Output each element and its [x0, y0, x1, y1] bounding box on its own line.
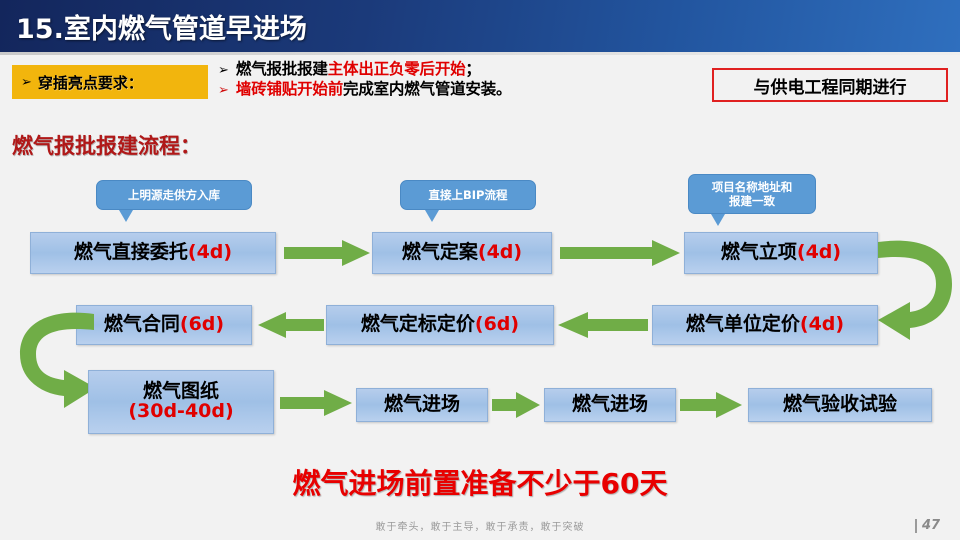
node-label: 燃气验收试验	[783, 393, 897, 415]
requirement-bullet-1: ➢ 燃气报批报建主体出正负零后开始；	[218, 62, 688, 78]
node-gas-bid-pricing[interactable]: 燃气定标定价(6d)	[326, 305, 554, 345]
node-label: 燃气进场	[384, 393, 460, 415]
highlight-requirement-label: ➢ 穿插亮点要求：	[12, 65, 208, 99]
arrow-row1-1to2	[284, 240, 370, 266]
arrow-row2-3to2	[558, 312, 648, 338]
callout-2: 直接上BIP流程	[400, 180, 536, 210]
sync-note-box: 与供电工程同期进行	[712, 68, 948, 102]
bullet-arrow-icon: ➢	[218, 64, 229, 77]
node-label: 燃气图纸	[143, 380, 219, 402]
page-title: 15.室内燃气管道早进场	[16, 7, 307, 46]
header-divider	[0, 52, 960, 55]
bullet-1-text-tail: ；	[465, 60, 480, 78]
node-label: 燃气进场	[572, 393, 648, 415]
node-duration: (4d)	[797, 241, 841, 263]
bullet-arrow-icon: ➢	[21, 75, 32, 90]
node-gas-acceptance-test[interactable]: 燃气验收试验	[748, 388, 932, 422]
page-number: 47	[922, 518, 940, 533]
highlight-requirement-text: 穿插亮点要求：	[38, 72, 143, 93]
callout-2-text: 直接上BIP流程	[429, 188, 508, 202]
arrow-row1-2to3	[560, 240, 680, 266]
bullet-1-text-lead: 燃气报批报建	[236, 60, 328, 78]
node-duration: (4d)	[478, 241, 522, 263]
arrow-row3-3to4	[680, 392, 742, 418]
sync-note-text: 与供电工程同期进行	[754, 73, 907, 98]
node-gas-plan-approval[interactable]: 燃气定案(4d)	[372, 232, 552, 274]
arrow-row3-1to2	[280, 390, 352, 416]
requirement-bullet-2: ➢ 墙砖铺贴开始前完成室内燃气管道安装。	[218, 82, 688, 98]
callout-tail-icon	[425, 210, 439, 222]
node-gas-direct-commission[interactable]: 燃气直接委托(4d)	[30, 232, 276, 274]
node-duration: (4d)	[188, 241, 232, 263]
node-gas-contract[interactable]: 燃气合同(6d)	[76, 305, 252, 345]
bullet-arrow-icon: ➢	[218, 84, 229, 97]
requirement-bullet-list: ➢ 燃气报批报建主体出正负零后开始； ➢ 墙砖铺贴开始前完成室内燃气管道安装。	[218, 62, 688, 101]
bullet-2-text-tail: 完成室内燃气管道安装。	[343, 80, 511, 98]
page-number-separator	[915, 519, 917, 533]
arrow-row2-2to1	[258, 312, 324, 338]
bullet-2-text-emphasis: 墙砖铺贴开始前	[236, 80, 343, 98]
node-gas-drawings[interactable]: 燃气图纸 (30d-40d)	[88, 370, 274, 434]
node-label: 燃气立项	[721, 241, 797, 263]
callout-1-text: 上明源走供方入库	[128, 188, 220, 202]
slide-header: 15.室内燃气管道早进场	[0, 0, 960, 52]
callout-3: 项目名称地址和 报建一致	[688, 174, 816, 214]
summary-headline: 燃气进场前置准备不少于60天	[0, 462, 960, 502]
node-gas-entry-1[interactable]: 燃气进场	[356, 388, 488, 422]
node-duration: (4d)	[800, 313, 844, 335]
arrow-row3-2to3	[492, 392, 540, 418]
node-label: 燃气定标定价	[361, 313, 475, 335]
callout-tail-icon	[711, 214, 725, 226]
callout-3-text: 项目名称地址和 报建一致	[712, 180, 793, 209]
arrow-uturn-left	[4, 300, 96, 408]
node-duration: (6d)	[180, 313, 224, 335]
node-duration: (30d-40d)	[128, 402, 233, 422]
node-gas-entry-2[interactable]: 燃气进场	[544, 388, 676, 422]
bullet-1-text-emphasis: 主体出正负零后开始	[328, 60, 466, 78]
node-label: 燃气单位定价	[686, 313, 800, 335]
node-label: 燃气合同	[104, 313, 180, 335]
callout-1: 上明源走供方入库	[96, 180, 252, 210]
node-gas-project-setup[interactable]: 燃气立项(4d)	[684, 232, 878, 274]
node-gas-unit-pricing[interactable]: 燃气单位定价(4d)	[652, 305, 878, 345]
node-label: 燃气直接委托	[74, 241, 188, 263]
section-title: 燃气报批报建流程：	[12, 130, 201, 160]
slide-canvas: 15.室内燃气管道早进场 ➢ 穿插亮点要求： ➢ 燃气报批报建主体出正负零后开始…	[0, 0, 960, 540]
node-duration: (6d)	[475, 313, 519, 335]
footer-slogan: 敢于牵头，敢于主导，敢于承责，敢于突破	[0, 518, 960, 533]
arrow-uturn-right	[876, 228, 960, 340]
callout-tail-icon	[119, 210, 133, 222]
node-label: 燃气定案	[402, 241, 478, 263]
